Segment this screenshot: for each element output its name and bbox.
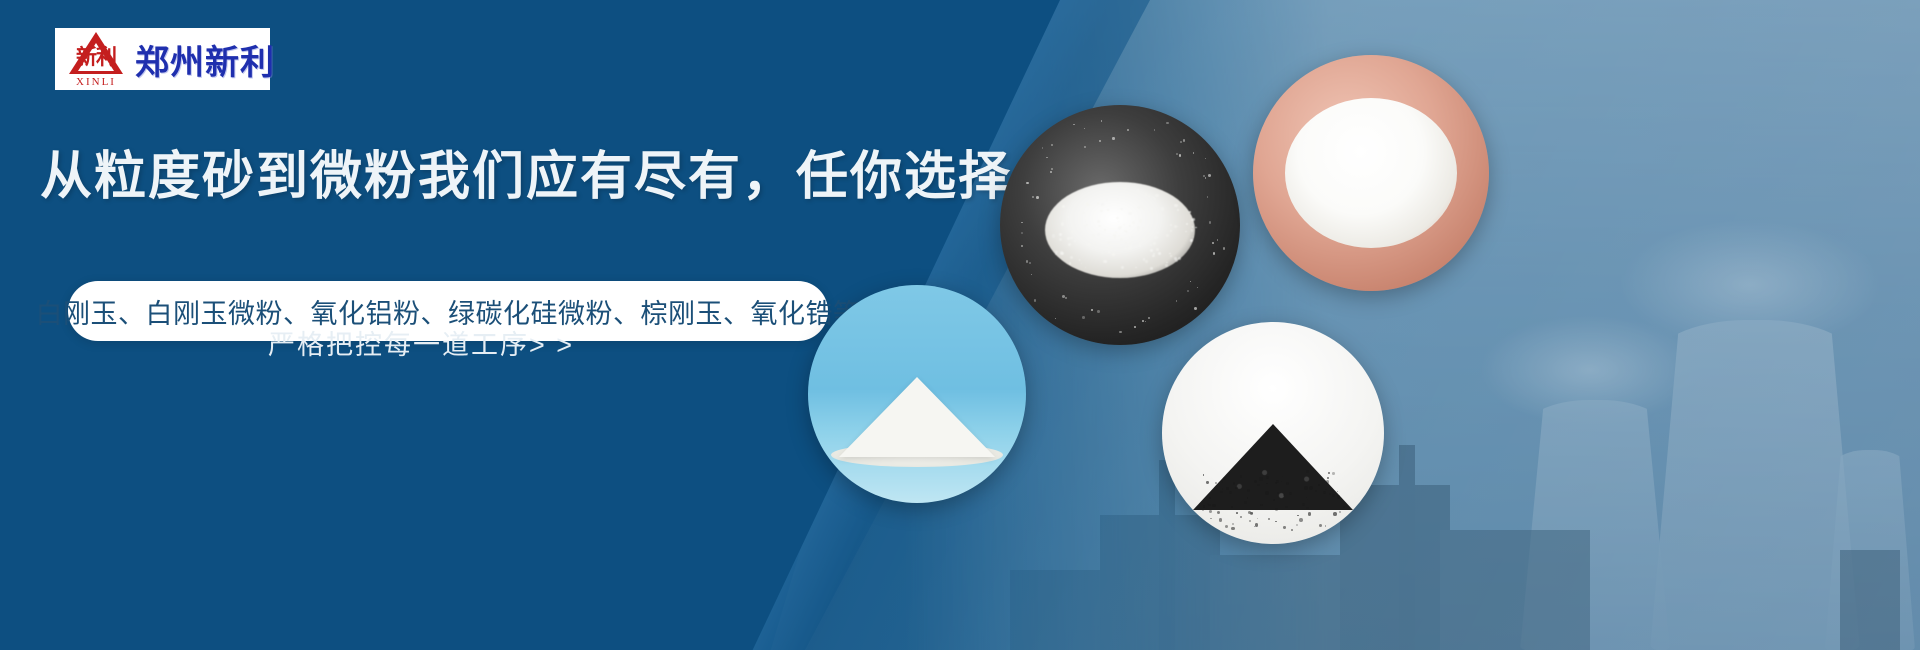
stray-granule-speck [1082,316,1085,319]
stray-granule-speck [1127,129,1129,131]
stray-granule-speck [1187,290,1189,292]
granule-speck [1142,207,1145,210]
stray-granule-speck [1084,128,1085,129]
stray-granule-speck [1021,232,1023,234]
black-grain-speck [1229,491,1232,494]
granule-speck [1152,255,1154,257]
granule-speck [1074,240,1077,243]
black-grain-speck [1333,512,1337,516]
granule-speck [1068,243,1071,246]
black-grain-speck [1286,482,1289,485]
granule-speck [1193,236,1194,237]
granule-speck [1118,235,1120,237]
granule-speck [1165,264,1167,266]
black-grain-speck [1319,524,1322,527]
granule-speck [1137,226,1140,229]
stray-granule-speck [1099,140,1101,142]
black-grain-speck [1266,476,1269,479]
stray-granule-speck [1062,295,1065,298]
granule-speck [1135,246,1137,248]
granule-speck [1080,231,1082,233]
granule-speck [1086,224,1087,225]
black-grain-speck [1232,523,1234,525]
headline: 从粒度砂到微粉我们应有尽有，任你选择 [40,148,1012,206]
granule-speck [1138,244,1141,247]
logo-pinyin-text: XINLI [65,76,127,88]
granule-speck [1108,250,1111,253]
stray-granule-speck [1223,247,1225,249]
stray-granule-speck [1031,274,1032,275]
granule-speck [1128,212,1131,215]
granule-speck [1175,259,1178,262]
stray-granule-speck [1021,222,1023,224]
granule-speck [1137,189,1139,191]
granule-speck [1150,244,1151,245]
granule-speck [1147,232,1150,235]
stray-granule-speck [1194,307,1197,310]
granule-speck [1166,234,1169,237]
company-logo[interactable]: 新利 XINLI 郑州新利 [55,28,270,90]
granule-speck [1192,226,1194,228]
granule-speck [1155,194,1158,197]
black-grain-speck [1275,508,1279,512]
granule-speck [1123,224,1125,226]
logo-mark-text: 新利 [68,47,124,68]
stray-granule-speck [1183,139,1186,142]
granule-speck [1079,259,1081,261]
black-grain-speck [1291,529,1293,531]
black-grain-speck [1296,524,1298,526]
granule-speck [1123,187,1126,190]
granule-speck [1152,203,1156,207]
stray-granule-speck [1034,299,1036,301]
stray-granule-speck [1101,120,1103,122]
stray-granule-speck [1145,321,1146,322]
granule-speck [1081,263,1083,265]
granule-speck [1100,210,1103,213]
granule-speck [1145,193,1148,196]
granule-speck [1153,242,1156,245]
granule-speck [1120,226,1122,228]
granule-speck [1190,239,1193,242]
black-grain-speck [1226,487,1229,490]
granule-speck [1071,230,1074,233]
granule-speck [1152,197,1153,198]
granule-speck [1137,229,1139,231]
granule-speck [1166,262,1167,263]
granule-speck [1120,238,1123,241]
granule-speck [1177,209,1179,211]
granule-speck [1085,221,1087,223]
black-granule-heap-shape [1193,424,1353,510]
triangle-logo-icon: 新利 XINLI [65,31,127,87]
granule-speck [1131,236,1133,238]
granule-speck [1149,195,1150,196]
granule-speck [1138,197,1141,200]
granule-speck [1128,247,1131,250]
granule-speck [1149,208,1151,210]
stray-granule-speck [1119,331,1122,334]
stray-granule-speck [1134,326,1136,328]
stray-granule-speck [1046,157,1048,159]
black-grain-speck [1209,497,1211,499]
granule-speck [1151,213,1155,217]
stray-granule-speck [1021,245,1023,247]
black-grain-speck [1217,511,1220,514]
stray-granule-speck [1091,309,1092,310]
granule-speck [1104,229,1107,232]
granule-speck [1094,243,1095,244]
granule-speck [1145,260,1148,263]
granule-speck [1150,267,1153,270]
granule-speck [1070,237,1072,239]
stray-granule-speck [1176,300,1177,301]
stray-granule-speck [1026,260,1029,263]
granule-speck [1124,247,1127,250]
stray-granule-speck [1097,310,1100,313]
granule-speck [1101,203,1104,206]
black-grain-speck [1304,486,1308,490]
granule-speck [1052,234,1055,237]
black-grain-speck [1240,516,1242,518]
granule-speck [1061,222,1064,225]
granule-speck [1143,238,1145,240]
stray-granule-speck [1176,153,1178,155]
black-grain-speck [1222,488,1224,490]
granule-speck [1161,207,1164,210]
granule-speck [1139,242,1141,244]
granule-speck [1157,232,1158,233]
granule-speck [1156,248,1159,251]
black-grain-speck [1231,527,1234,530]
stray-granule-speck [1073,124,1075,126]
granule-speck [1151,208,1153,210]
granule-speck [1097,202,1099,204]
granule-speck [1097,233,1100,236]
black-grain-speck [1250,512,1253,515]
black-grain-speck [1326,480,1330,484]
granule-speck [1186,223,1188,225]
stray-granule-speck [1051,168,1053,170]
granule-speck [1112,253,1115,256]
granule-speck [1157,209,1160,212]
stray-granule-speck [1154,129,1155,130]
stray-granule-speck [1084,146,1086,148]
granule-speck [1120,208,1122,210]
stray-granule-speck [1193,152,1194,153]
powder-cone-shape [839,377,995,457]
stray-granule-speck [1042,147,1044,149]
granule-speck [1125,242,1127,244]
granule-speck [1107,241,1110,244]
product-photo-alumina-powder[interactable] [808,285,1026,503]
stray-granule-speck [1029,262,1031,264]
stray-granule-speck [1213,252,1216,255]
stray-granule-speck [1051,144,1053,146]
black-grain-speck [1289,492,1292,495]
granule-speck [1132,221,1135,224]
stray-granule-speck [1050,171,1052,173]
black-grain-speck [1220,491,1223,494]
granule-speck [1129,225,1131,227]
granule-speck [1117,198,1120,201]
black-grain-speck [1308,512,1312,516]
stray-granule-speck [1197,287,1198,288]
black-grain-speck [1325,489,1326,490]
stray-granule-speck [1190,281,1191,282]
black-grain-speck [1210,518,1211,519]
granule-speck [1121,266,1124,269]
stray-granule-speck [1142,320,1144,322]
black-grain-speck [1325,525,1327,527]
granule-speck [1067,216,1070,219]
granule-speck [1163,215,1164,216]
stray-granule-speck [1209,221,1211,223]
black-grain-speck [1206,481,1208,483]
black-grain-speck [1299,518,1303,522]
granule-speck [1087,243,1090,246]
granule-speck [1135,267,1136,268]
black-grain-speck [1233,482,1236,485]
black-grain-speck [1309,486,1313,490]
stray-granule-speck [1112,137,1114,139]
granule-speck [1178,257,1181,260]
granule-speck [1076,244,1078,246]
granule-speck [1195,227,1197,229]
stray-granule-speck [1032,196,1034,198]
stray-granule-speck [1026,182,1028,184]
black-grain-speck [1257,518,1258,519]
product-photo-white-corundum-micropowder[interactable] [1253,55,1489,291]
granule-speck [1137,206,1141,210]
black-grain-speck [1219,518,1222,521]
black-grain-speck [1283,526,1285,528]
stray-granule-speck [1065,297,1066,298]
black-grain-speck [1297,515,1299,517]
granule-speck [1139,219,1142,222]
process-cta-link[interactable]: 严格把控每一道工序> > [268,323,574,362]
granule-speck [1063,220,1064,221]
black-grain-speck [1215,482,1217,484]
black-grain-speck [1306,507,1308,509]
black-grain-speck [1268,518,1270,520]
stray-granule-speck [1148,317,1150,319]
black-grain-speck [1244,501,1247,504]
granule-speck [1109,187,1110,188]
granule-speck [1103,260,1106,263]
granule-speck [1170,230,1171,231]
granule-speck [1192,218,1195,221]
granule-speck [1115,231,1117,233]
stray-granule-speck [1207,196,1208,197]
granule-speck [1191,229,1193,231]
granule-speck [1059,238,1062,241]
granule-speck [1085,267,1086,268]
stray-granule-speck [1180,141,1182,143]
black-grain-speck [1273,499,1275,501]
black-grain-speck [1236,512,1238,514]
granule-speck [1124,230,1127,233]
granule-speck [1170,224,1172,226]
stray-granule-speck [1208,174,1211,177]
granule-speck [1185,231,1186,232]
granule-speck [1189,211,1191,213]
black-grain-speck [1209,510,1212,513]
granule-speck [1062,205,1065,208]
granule-speck [1142,227,1143,228]
black-grain-speck [1231,506,1233,508]
stray-granule-speck [1055,318,1057,320]
granule-speck [1109,246,1112,249]
granule-speck [1082,204,1084,206]
logo-brand-text: 郑州新利 [135,35,275,84]
granule-speck [1055,253,1058,256]
granule-speck [1098,225,1100,227]
black-grain-speck [1247,489,1250,492]
granule-speck [1082,212,1084,214]
granule-speck [1150,249,1153,252]
granule-speck [1097,243,1099,245]
stray-granule-speck [1205,158,1206,159]
granule-heap-shape [1045,182,1195,278]
granule-speck [1106,199,1108,201]
granule-speck [1102,252,1104,254]
black-grain-speck [1257,484,1259,486]
granule-speck [1102,189,1104,191]
black-grain-speck [1339,511,1341,513]
black-grain-speck [1249,520,1251,522]
granule-speck [1154,236,1157,239]
stray-granule-speck [1166,122,1169,125]
black-grain-speck [1255,523,1258,526]
black-grain-speck [1202,510,1203,511]
granule-speck [1061,252,1064,255]
granule-speck [1097,220,1100,223]
granule-speck [1059,233,1062,236]
stray-granule-speck [1179,154,1181,156]
granule-speck [1174,204,1178,208]
stray-granule-speck [1205,177,1207,179]
product-photo-silicon-carbide[interactable] [1162,322,1384,544]
granule-speck [1170,255,1172,257]
black-grain-speck [1275,521,1276,522]
stray-granule-speck [1217,239,1218,240]
black-grain-speck [1223,477,1226,480]
black-grain-speck [1265,491,1268,494]
granule-speck [1107,209,1109,211]
granule-speck [1092,234,1095,237]
granule-speck [1114,237,1116,239]
stray-granule-speck [1212,242,1214,244]
granule-speck [1118,221,1119,222]
granule-speck [1154,198,1156,200]
black-grain-speck [1329,493,1331,495]
granule-speck [1084,225,1086,227]
granule-speck [1116,217,1119,220]
stray-granule-speck [1036,196,1039,199]
hero-banner: 新利 XINLI 郑州新利 从粒度砂到微粉我们应有尽有，任你选择 白刚玉、白刚玉… [0,0,1920,650]
granule-speck [1129,237,1130,238]
product-photo-white-corundum-grit[interactable] [1000,105,1240,345]
black-grain-speck [1212,504,1215,507]
powder-heap-shape [1285,98,1457,248]
black-grain-speck [1259,477,1262,480]
black-grain-speck [1205,523,1209,527]
granule-speck [1069,262,1071,264]
granule-speck [1070,256,1073,259]
granule-speck [1158,252,1161,255]
granule-speck [1155,231,1156,232]
black-grain-speck [1225,525,1228,528]
